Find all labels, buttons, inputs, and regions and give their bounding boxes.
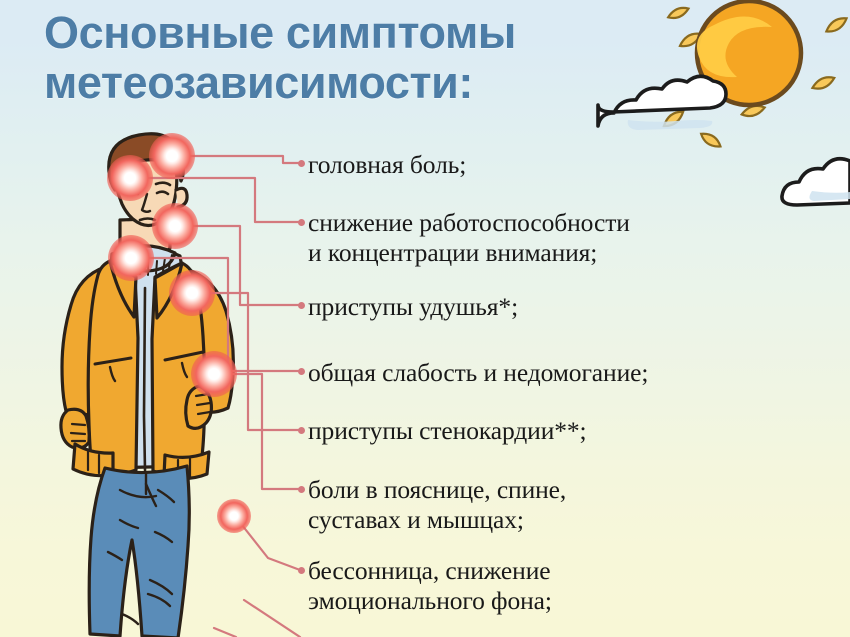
sun-highlight [697,16,772,77]
pain-marker-chest [169,270,215,316]
symptom-item-1: головная боль; [308,150,466,180]
sun-icon [697,1,801,105]
sun-ray-icon [667,6,690,21]
leader-dot-3 [298,302,305,309]
pain-marker-head-top [149,133,195,179]
symptom-item-5: приступы стенокардии**; [308,416,587,446]
character-illustration [0,128,300,637]
sun-ray-icon [741,104,766,118]
symptom-item-3: приступы удушья*; [308,292,518,322]
sun-rays [661,6,849,151]
pain-marker-temple [107,155,153,201]
sun-ray-icon [678,31,704,49]
sun-ray-icon [824,15,849,34]
pain-marker-throat [152,203,198,249]
pain-marker-abdomen [191,351,237,397]
leader-dot-6 [298,486,305,493]
jeans [89,466,189,637]
hand-left [61,409,89,448]
symptom-item-6: боли в пояснице, спине, суставах и мышца… [308,475,566,534]
pain-marker-leg [217,499,251,533]
symptom-item-7: бессонница, снижение эмоционального фона… [308,556,552,615]
infographic-poster: Основные симптомы метеозависимости: [0,0,850,637]
cloud-shadow [809,191,850,201]
leader-dot-4 [298,368,305,375]
leader-dot-2 [298,219,305,226]
leader-dot-5 [298,427,305,434]
leader-dot-1 [298,160,305,167]
symptom-item-4: общая слабость и недомогание; [308,358,648,388]
sun-ray-icon [699,129,723,150]
symptom-item-2: снижение работоспособности и концентраци… [308,208,630,267]
title-line-2: метеозависимости: [44,58,644,108]
page-title: Основные симптомы метеозависимости: [44,8,644,109]
sun-ray-icon [811,75,837,92]
title-line-1: Основные симптомы [44,8,644,58]
cloud-shadow [628,120,713,130]
pain-marker-shoulder [108,235,154,281]
jacket-opening [144,288,145,470]
cloud-icon [782,159,850,205]
leader-dot-7 [298,567,305,574]
sun-ray-icon [661,109,686,129]
